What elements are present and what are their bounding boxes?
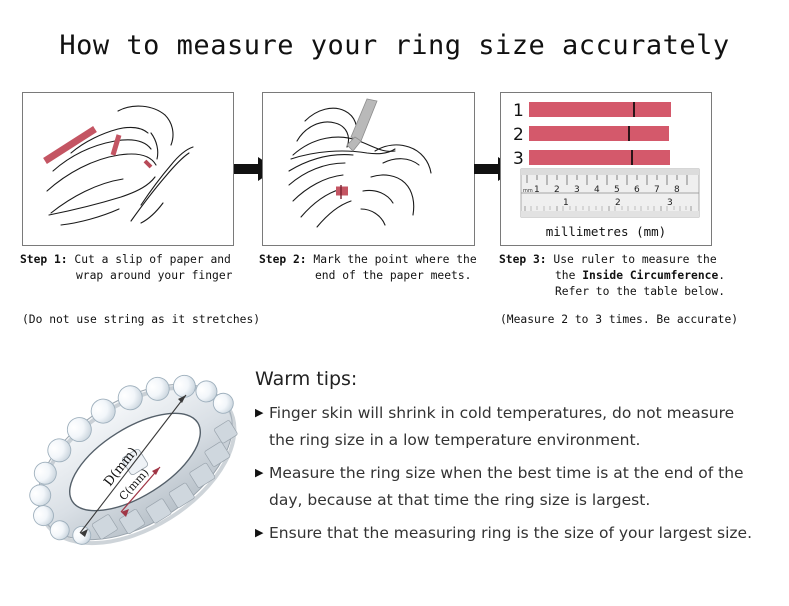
list-item: ▶ Measure the ring size when the best ti… [255, 460, 760, 514]
page-title: How to measure your ring size accurately [0, 30, 789, 61]
step-3-note: (Measure 2 to 3 times. Be accurate) [500, 313, 738, 326]
warm-tip-text: Finger skin will shrink in cold temperat… [269, 400, 760, 454]
measured-strip-2: 2 [513, 125, 669, 145]
bullet-triangle-icon: ▶ [255, 527, 269, 538]
step-3-line3: Refer to the table below. [499, 284, 739, 300]
step-1-note: (Do not use string as it stretches) [22, 313, 260, 326]
step-3-line1: Use ruler to measure the [553, 253, 716, 266]
svg-text:1: 1 [534, 185, 540, 195]
hand-marking-pen-drawing [263, 93, 474, 245]
step-1-illustration-panel [22, 92, 234, 246]
warm-tips-list: ▶ Finger skin will shrink in cold temper… [255, 400, 760, 553]
step-1-label: Step 1: [20, 253, 68, 266]
svg-text:8: 8 [674, 185, 680, 195]
list-item: ▶ Finger skin will shrink in cold temper… [255, 400, 760, 454]
measured-strip-3: 3 [513, 149, 670, 169]
svg-text:6: 6 [634, 185, 640, 195]
strip-label-1: 1 [513, 101, 524, 121]
step-2-illustration-panel [262, 92, 475, 246]
step-3-caption: Step 3: Use ruler to measure the the Ins… [499, 252, 739, 300]
ruler: mm 123 456 78 123 [521, 169, 699, 217]
svg-text:5: 5 [614, 185, 620, 195]
paper-strips-and-ruler-diagram: 1 2 3 [501, 93, 711, 245]
eternity-ring-illustration: D(mm) C(mm) [18, 355, 253, 570]
ring-diagram: D(mm) C(mm) [18, 355, 253, 570]
step-2-caption: Step 2: Mark the point where the end of … [259, 252, 489, 284]
svg-text:2: 2 [615, 198, 621, 208]
step-3-line2-prefix: the [555, 269, 582, 282]
measured-strip-1: 1 [513, 101, 671, 121]
step-3-illustration-panel: 1 2 3 [500, 92, 712, 246]
list-item: ▶ Ensure that the measuring ring is the … [255, 520, 760, 547]
svg-text:2: 2 [554, 185, 560, 195]
warm-tip-text: Ensure that the measuring ring is the si… [269, 520, 752, 547]
svg-text:3: 3 [667, 198, 673, 208]
bullet-triangle-icon: ▶ [255, 467, 269, 478]
svg-text:1: 1 [563, 198, 569, 208]
step-1-caption: Step 1: Cut a slip of paper and wrap aro… [20, 252, 252, 284]
svg-text:7: 7 [654, 185, 660, 195]
warm-tip-text: Measure the ring size when the best time… [269, 460, 760, 514]
strip-label-3: 3 [513, 149, 524, 169]
step-1-line1: Cut a slip of paper and [74, 253, 230, 266]
step-2-line2: end of the paper meets. [259, 268, 489, 284]
infographic-page: How to measure your ring size accurately [0, 0, 789, 606]
step-3-bold-phrase: Inside Circumference [582, 269, 718, 282]
strip-label-2: 2 [513, 125, 524, 145]
ruler-mm-unit-label: mm [523, 188, 533, 194]
ruler-caption: millimetres (mm) [546, 224, 666, 239]
step-3-line2-suffix: . [718, 269, 725, 282]
step-2-line1: Mark the point where the [313, 253, 476, 266]
step-3-line2: the Inside Circumference. [499, 268, 739, 284]
svg-text:3: 3 [574, 185, 580, 195]
warm-tips-heading: Warm tips: [255, 368, 357, 390]
step-1-line2: wrap around your finger [20, 268, 252, 284]
svg-text:4: 4 [594, 185, 600, 195]
step-3-label: Step 3: [499, 253, 547, 266]
hand-paper-slip-drawing [23, 93, 233, 245]
bullet-triangle-icon: ▶ [255, 407, 269, 418]
step-2-label: Step 2: [259, 253, 307, 266]
